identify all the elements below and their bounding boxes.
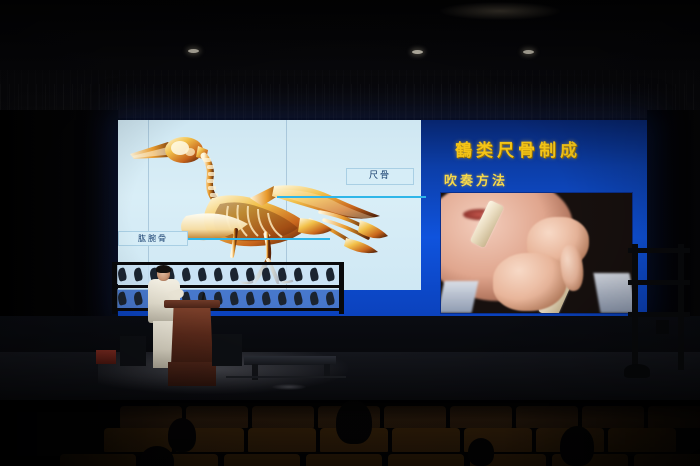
seat	[648, 406, 700, 428]
rack-shelf	[112, 308, 344, 311]
seat	[582, 406, 644, 428]
rack-item	[133, 267, 144, 282]
audience-head	[336, 400, 372, 444]
rack-item	[213, 267, 224, 282]
slide-title: 鶴类尺骨制成	[455, 136, 647, 161]
floor-cable	[226, 376, 346, 378]
wooden-lectern	[168, 300, 216, 386]
seat	[224, 454, 300, 466]
rack-item	[261, 291, 272, 306]
audience-head	[560, 426, 594, 466]
rack-item	[309, 291, 320, 306]
photo-hand-lower	[493, 253, 567, 311]
rack-item	[229, 291, 240, 306]
seat	[388, 454, 464, 466]
ceiling-glow	[440, 2, 560, 20]
scaffold-foot	[624, 364, 650, 378]
scaffold-post-left	[632, 244, 638, 370]
rack-item	[277, 267, 288, 282]
rack-shelf	[112, 285, 344, 288]
floor-reflection	[272, 384, 306, 390]
slide-subtitle: 吹奏方法	[444, 170, 508, 189]
bone-flute-photo	[440, 192, 633, 314]
seat	[248, 428, 316, 452]
seat	[450, 406, 512, 428]
rack-item	[325, 267, 336, 282]
stage-chair	[212, 334, 242, 366]
rack-post-left	[112, 262, 117, 314]
auditorium-scene: 肱腕骨 尺骨 鶴类尺骨制成 吹奏方法	[0, 0, 700, 466]
leader-line-humerus	[188, 238, 330, 240]
seat	[306, 454, 382, 466]
seat	[516, 406, 578, 428]
seat	[186, 406, 248, 428]
scaffold-hanging-bag	[656, 320, 669, 334]
crane-skeleton-illustration	[124, 126, 392, 284]
seat	[252, 406, 314, 428]
rack-item	[261, 267, 272, 282]
scaffold-post-right	[678, 244, 684, 370]
instrument-display-rack	[112, 262, 344, 310]
rack-item	[245, 267, 256, 282]
rack-item	[245, 291, 256, 306]
lectern-base	[168, 362, 216, 386]
audience-seating	[0, 400, 700, 466]
side-equipment-rack	[628, 244, 690, 380]
ceiling-stage-light	[188, 49, 199, 53]
seat	[634, 454, 700, 466]
rack-item	[117, 291, 128, 306]
rack-item	[325, 291, 336, 306]
seat	[384, 406, 446, 428]
red-storage-crate	[96, 350, 116, 364]
rack-item	[309, 267, 320, 282]
audience-head	[468, 438, 494, 466]
rack-item	[197, 267, 208, 282]
lectern-desktop	[164, 300, 220, 308]
slide-label-humerus: 肱腕骨	[118, 231, 188, 246]
rack-post-right	[339, 262, 344, 314]
lectern-body	[171, 308, 213, 366]
presenter-hair	[156, 265, 171, 273]
ceiling-stage-light	[412, 50, 423, 54]
seat	[608, 428, 676, 452]
audience-head	[168, 418, 196, 452]
rack-item	[181, 267, 192, 282]
rack-item	[293, 291, 304, 306]
seat	[392, 428, 460, 452]
seat	[60, 454, 136, 466]
rack-item	[133, 291, 144, 306]
rack-item	[293, 267, 304, 282]
ceiling-stage-light	[523, 50, 534, 54]
rack-item	[229, 267, 240, 282]
rack-item	[277, 291, 288, 306]
rack-item	[117, 267, 128, 282]
slide-label-ulna: 尺骨	[346, 168, 414, 185]
stage-chair	[120, 336, 146, 366]
leader-line-ulna	[277, 196, 426, 198]
